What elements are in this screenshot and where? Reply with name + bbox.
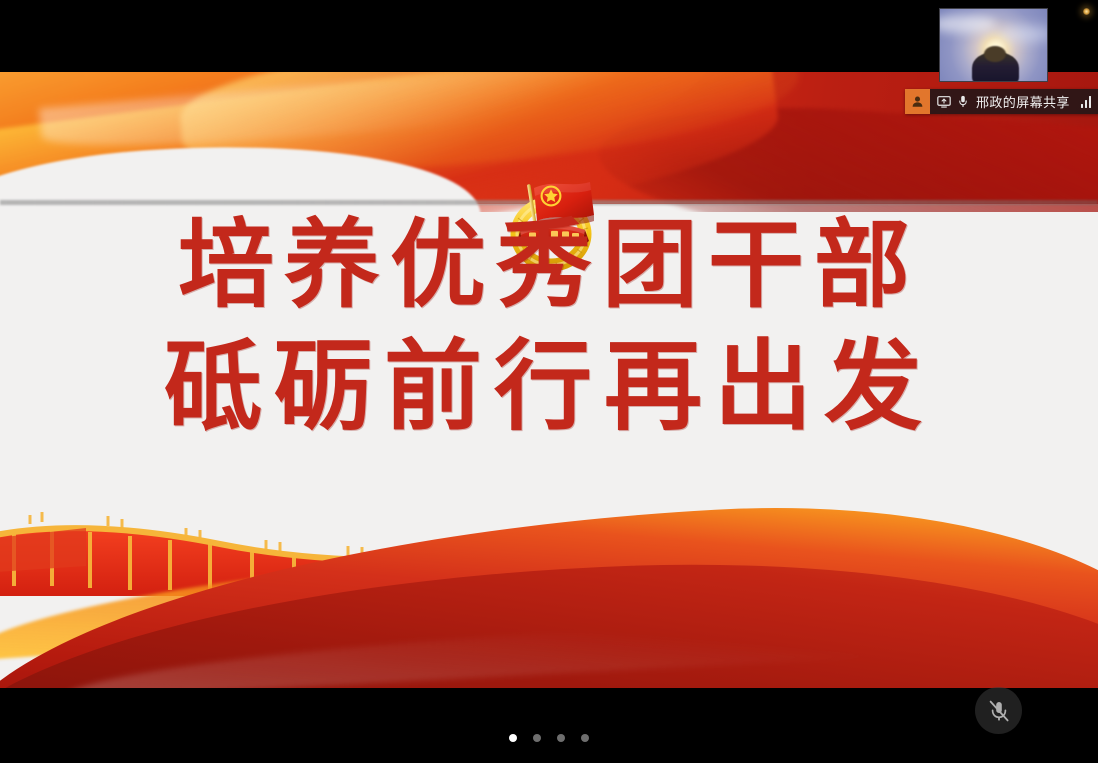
corner-light-glow <box>1083 8 1090 15</box>
slide-organization: 重庆工商大学金融学院分团委 <box>515 538 970 575</box>
screen-share-owner-label: 邢政的屏幕共享 <box>976 92 1070 111</box>
self-view-cloud <box>998 26 1048 42</box>
slide-title-line-2: 砥砺前行再出发 <box>0 326 1098 448</box>
microphone-icon <box>958 95 968 108</box>
screen-share-status-pill: 邢政的屏幕共享 <box>905 89 1098 114</box>
mute-toggle-button[interactable] <box>975 687 1022 734</box>
signal-bars-icon <box>1081 96 1092 108</box>
slide-pagination[interactable] <box>0 734 1098 742</box>
slide-date: 二〇二二年十一月十二日 <box>515 575 970 612</box>
screen-share-icon <box>937 96 951 108</box>
great-wall-motif <box>0 510 470 596</box>
slide-credits: 重庆工商大学金融学院分团委 二〇二二年十一月十二日 <box>515 538 970 612</box>
pagination-dot[interactable] <box>557 734 565 742</box>
pagination-dot[interactable] <box>581 734 589 742</box>
self-view-thumbnail[interactable] <box>939 8 1048 82</box>
slide-title-line-1: 培养优秀团干部 <box>0 204 1098 326</box>
screen-share-viewer: 培养优秀团干部 砥砺前行再出发 重庆工商大学金融学院分团委 二〇二二年十一月十二… <box>0 0 1098 763</box>
user-icon <box>905 89 930 114</box>
presentation-slide: 培养优秀团干部 砥砺前行再出发 重庆工商大学金融学院分团委 二〇二二年十一月十二… <box>0 72 1098 688</box>
pagination-dot[interactable] <box>509 734 517 742</box>
microphone-muted-icon <box>986 698 1012 724</box>
slide-title-block: 培养优秀团干部 砥砺前行再出发 <box>0 204 1098 448</box>
pagination-dot[interactable] <box>533 734 541 742</box>
